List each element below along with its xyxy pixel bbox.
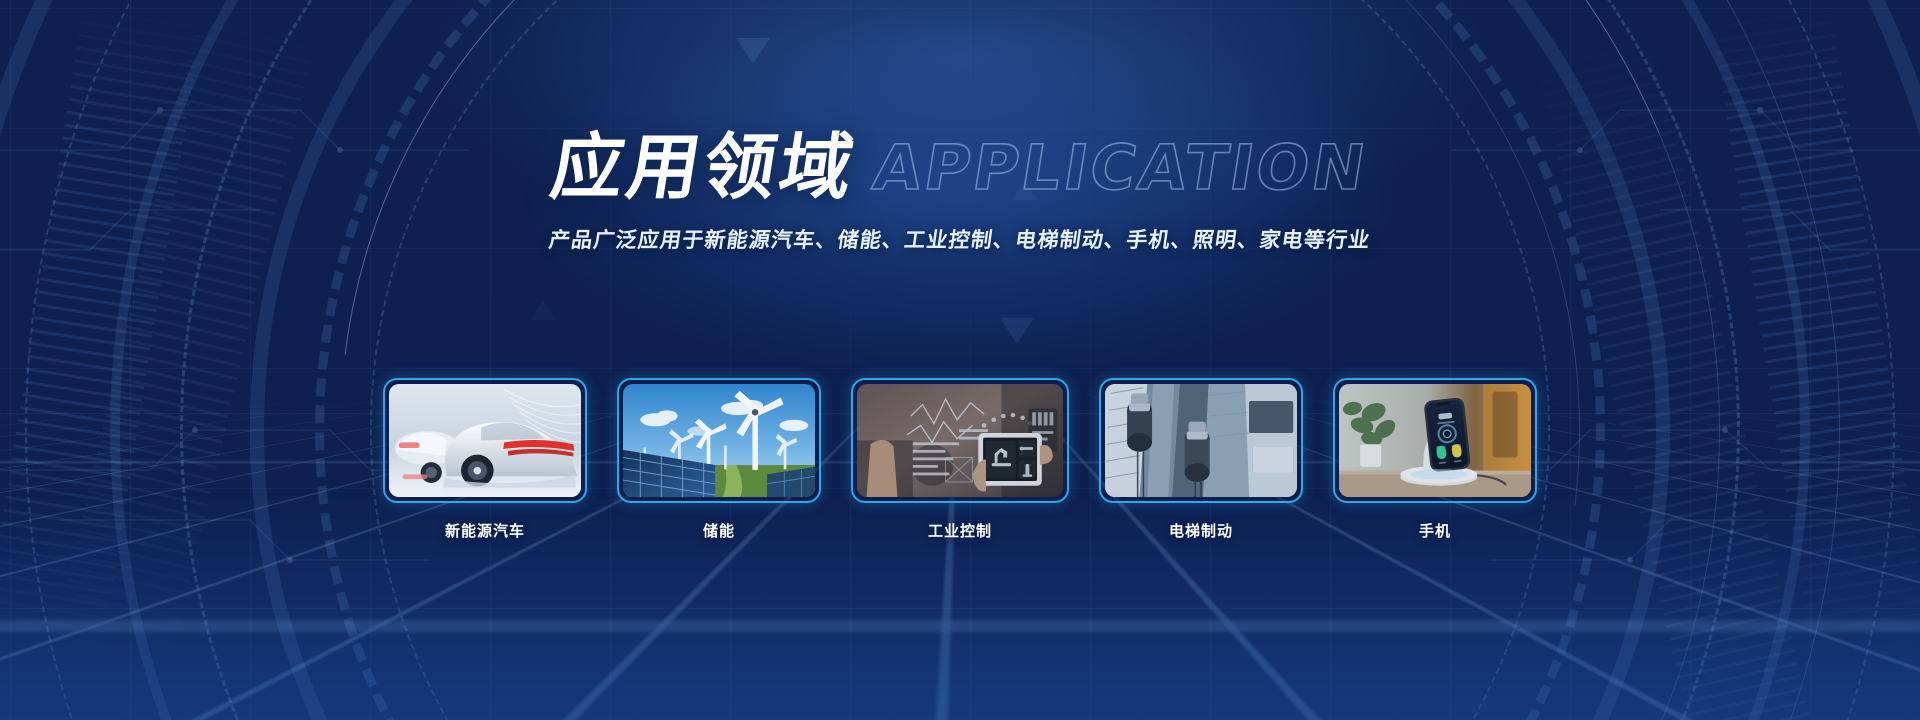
card-label: 手机 — [1333, 520, 1537, 541]
industrial-control-photo — [857, 384, 1063, 497]
application-banner: 应用领域 APPLICATION 产品广泛应用于新能源汽车、储能、工业控制、电梯… — [0, 0, 1920, 720]
card-label: 电梯制动 — [1099, 520, 1303, 541]
card-frame[interactable] — [617, 378, 821, 503]
application-card[interactable]: 工业控制 — [851, 378, 1069, 541]
application-card[interactable]: 手机 — [1333, 378, 1537, 541]
application-card[interactable]: 电梯制动 — [1099, 378, 1303, 541]
application-card-list: 新能源汽车 — [0, 378, 1920, 541]
card-frame[interactable] — [1099, 378, 1303, 503]
card-label: 新能源汽车 — [383, 520, 587, 541]
application-card[interactable]: 储能 — [617, 378, 821, 541]
card-label: 储能 — [617, 520, 821, 541]
card-label: 工业控制 — [851, 520, 1069, 541]
card-frame[interactable] — [851, 378, 1069, 503]
banner-heading: 应用领域 APPLICATION — [0, 131, 1920, 203]
card-frame[interactable] — [1333, 378, 1537, 503]
card-frame[interactable] — [383, 378, 587, 503]
page-title-en-outline: APPLICATION — [870, 137, 1373, 199]
elevator-braking-photo — [1105, 384, 1297, 497]
page-title-cn: 应用领域 — [547, 131, 862, 203]
banner-subtitle: 产品广泛应用于新能源汽车、储能、工业控制、电梯制动、手机、照明、家电等行业 — [0, 224, 1920, 254]
energy-storage-photo — [623, 384, 815, 497]
mobile-phone-photo — [1339, 384, 1531, 497]
application-card[interactable]: 新能源汽车 — [383, 378, 587, 541]
new-energy-vehicle-photo — [389, 384, 581, 497]
